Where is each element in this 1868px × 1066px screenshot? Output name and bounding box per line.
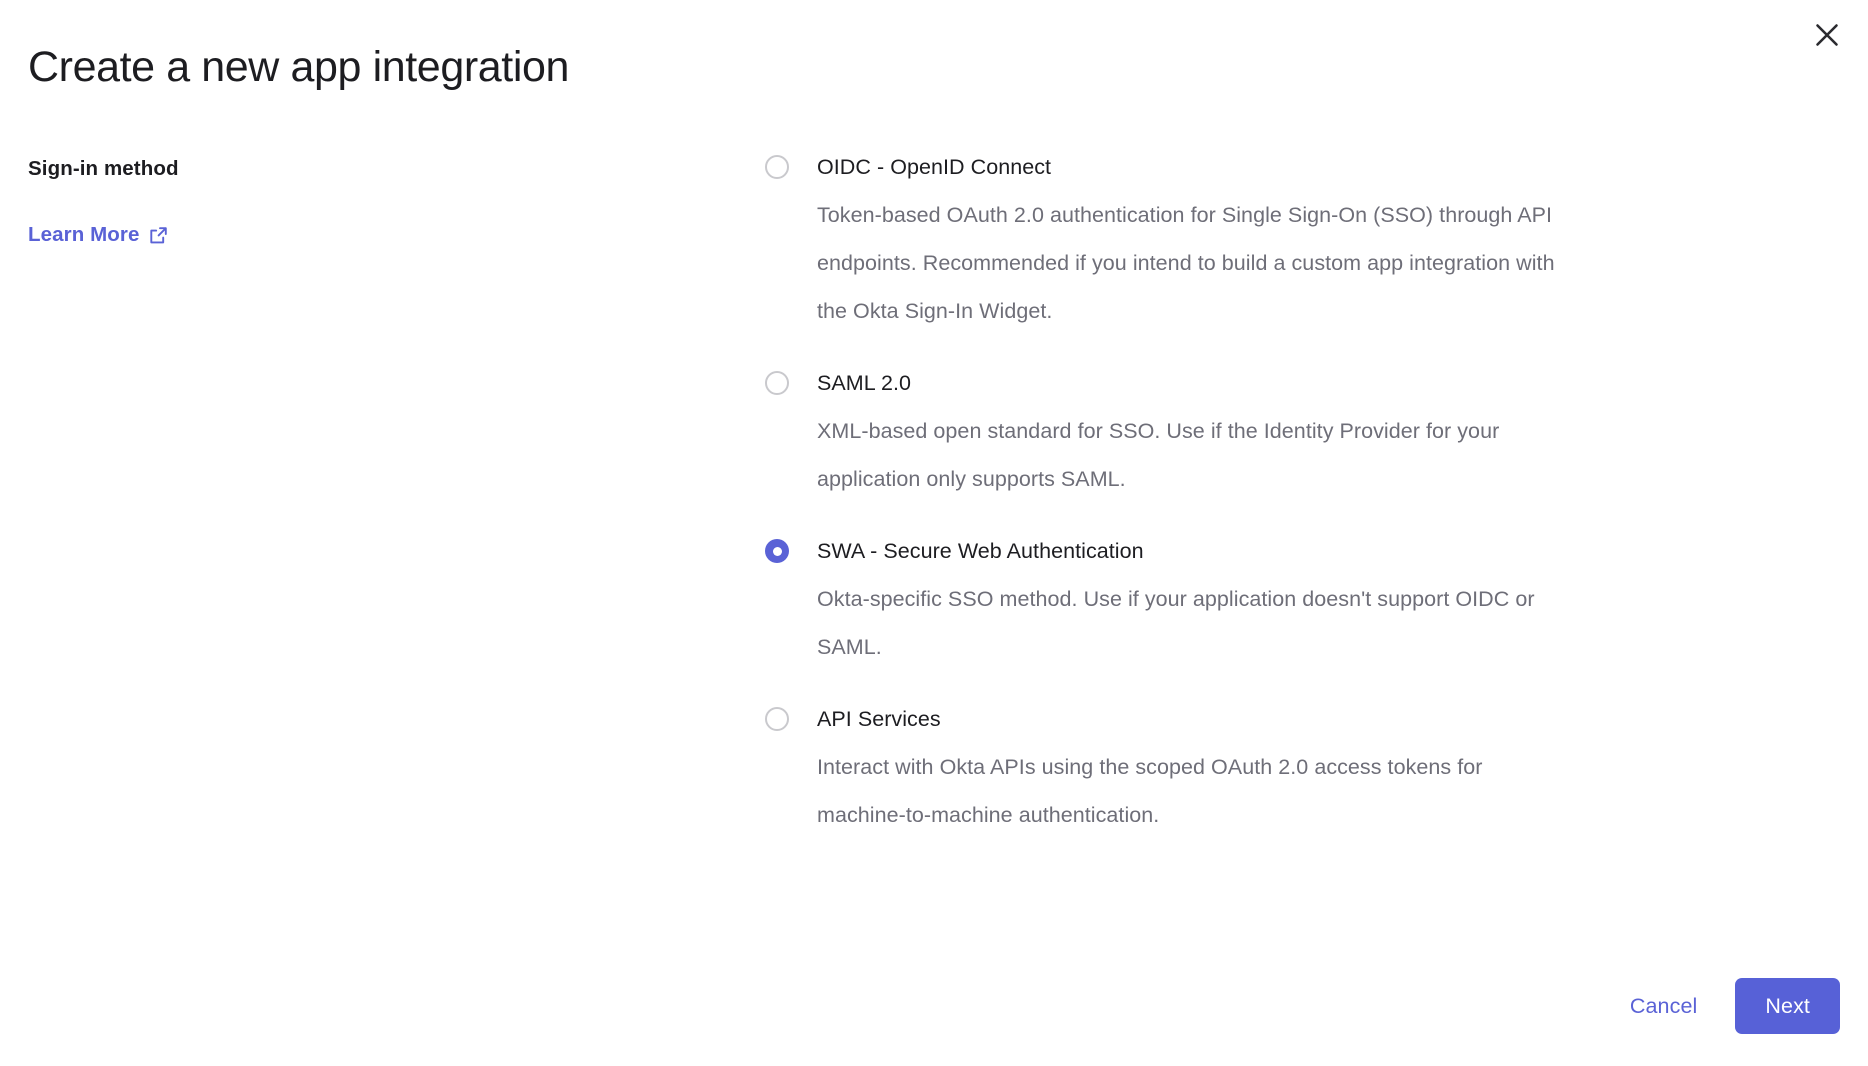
radio-description-swa: Okta-specific SSO method. Use if your ap… xyxy=(817,575,1555,671)
sign-in-method-radio-group[interactable]: OIDC - OpenID Connect Token-based OAuth … xyxy=(765,143,1555,839)
radio-mark-oidc[interactable] xyxy=(765,155,789,179)
radio-title-oidc: OIDC - OpenID Connect xyxy=(817,143,1555,191)
next-button[interactable]: Next xyxy=(1735,978,1840,1034)
radio-description-saml: XML-based open standard for SSO. Use if … xyxy=(817,407,1555,503)
page-title: Create a new app integration xyxy=(28,42,569,93)
radio-mark-saml[interactable] xyxy=(765,371,789,395)
radio-title-saml: SAML 2.0 xyxy=(817,359,1555,407)
radio-option-oidc[interactable]: OIDC - OpenID Connect Token-based OAuth … xyxy=(765,143,1555,335)
radio-description-oidc: Token-based OAuth 2.0 authentication for… xyxy=(817,191,1555,335)
dialog-footer: Cancel Next xyxy=(1628,978,1840,1034)
cancel-button[interactable]: Cancel xyxy=(1628,990,1700,1023)
radio-mark-swa[interactable] xyxy=(765,539,789,563)
external-link-icon-glyph xyxy=(149,226,168,245)
sign-in-method-label: Sign-in method xyxy=(28,155,728,183)
external-link-icon xyxy=(149,226,168,245)
radio-description-api-services: Interact with Okta APIs using the scoped… xyxy=(817,743,1555,839)
close-icon[interactable] xyxy=(1804,12,1850,58)
radio-option-saml[interactable]: SAML 2.0 XML-based open standard for SSO… xyxy=(765,359,1555,503)
create-app-integration-dialog: Create a new app integration Sign-in met… xyxy=(0,0,1868,1066)
radio-title-api-services: API Services xyxy=(817,695,1555,743)
radio-mark-api-services[interactable] xyxy=(765,707,789,731)
left-column: Sign-in method Learn More xyxy=(28,155,728,247)
learn-more-label: Learn More xyxy=(28,223,140,247)
close-icon-glyph xyxy=(1813,21,1841,49)
radio-option-api-services[interactable]: API Services Interact with Okta APIs usi… xyxy=(765,695,1555,839)
radio-title-swa: SWA - Secure Web Authentication xyxy=(817,527,1555,575)
radio-option-swa[interactable]: SWA - Secure Web Authentication Okta-spe… xyxy=(765,527,1555,671)
learn-more-link[interactable]: Learn More xyxy=(28,223,168,247)
